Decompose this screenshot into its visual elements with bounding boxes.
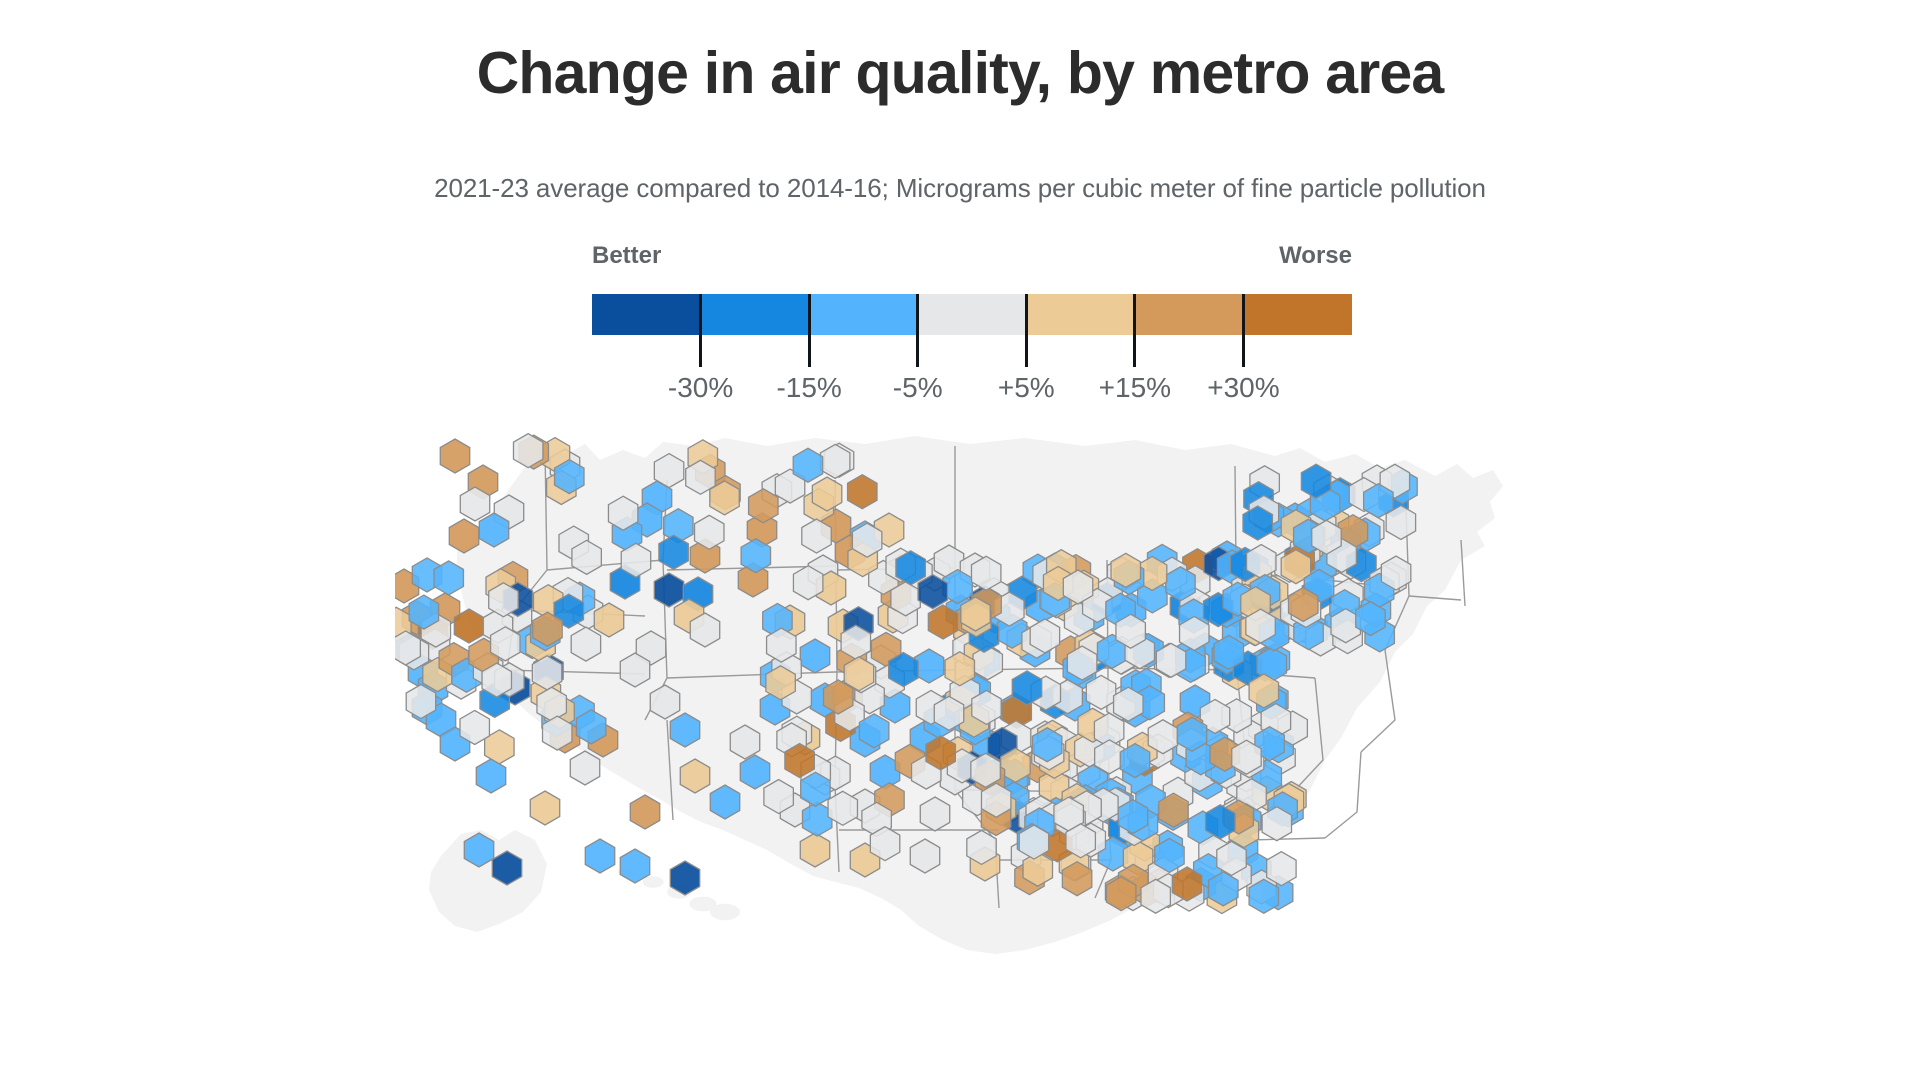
metro-hex[interactable] xyxy=(449,519,478,553)
legend-swatch-0 xyxy=(592,294,701,335)
metro-hex[interactable] xyxy=(848,475,877,509)
legend-swatch-3 xyxy=(918,294,1027,335)
metro-hex[interactable] xyxy=(492,851,521,885)
legend-tick-label-4: +15% xyxy=(1099,372,1171,404)
legend-swatch-4 xyxy=(1026,294,1135,335)
metro-hex[interactable] xyxy=(476,759,505,793)
metro-hex[interactable] xyxy=(620,849,649,883)
us-hex-cartogram xyxy=(395,420,1525,1070)
color-legend: Better Worse -30%-15%-5%+5%+15%+30% xyxy=(592,242,1352,392)
legend-swatch-5 xyxy=(1135,294,1244,335)
metro-hex[interactable] xyxy=(800,833,829,867)
metro-hex[interactable] xyxy=(571,627,600,661)
metro-hex[interactable] xyxy=(680,759,709,793)
metro-hex[interactable] xyxy=(654,573,683,607)
metro-hex-layer xyxy=(395,420,1525,1070)
metro-hex[interactable] xyxy=(920,797,949,831)
legend-tick-label-5: +30% xyxy=(1207,372,1279,404)
metro-hex[interactable] xyxy=(650,685,679,719)
metro-hex[interactable] xyxy=(670,713,699,747)
metro-hex[interactable] xyxy=(710,785,739,819)
metro-hex[interactable] xyxy=(530,791,559,825)
metro-hex[interactable] xyxy=(585,839,614,873)
metro-hex[interactable] xyxy=(730,725,759,759)
legend-worse-label: Worse xyxy=(1279,242,1352,270)
metro-hex[interactable] xyxy=(659,535,688,569)
page-title: Change in air quality, by metro area xyxy=(0,38,1920,108)
legend-tick-labels: -30%-15%-5%+5%+15%+30% xyxy=(592,372,1352,412)
legend-captions: Better Worse xyxy=(592,242,1352,276)
metro-hex[interactable] xyxy=(910,839,939,873)
legend-tick-label-0: -30% xyxy=(668,372,733,404)
legend-swatch-2 xyxy=(809,294,918,335)
legend-tick-label-1: -15% xyxy=(776,372,841,404)
metro-hex[interactable] xyxy=(670,861,699,895)
legend-better-label: Better xyxy=(592,242,661,270)
metro-hex[interactable] xyxy=(440,439,469,473)
legend-swatch-1 xyxy=(701,294,810,335)
metro-hex[interactable] xyxy=(800,639,829,673)
metro-hex[interactable] xyxy=(740,755,769,789)
legend-swatch-6 xyxy=(1243,294,1352,335)
metro-hex[interactable] xyxy=(464,833,493,867)
legend-tick-label-3: +5% xyxy=(998,372,1055,404)
metro-hex[interactable] xyxy=(570,751,599,785)
chart-page: Change in air quality, by metro area 202… xyxy=(0,0,1920,1080)
legend-color-bar xyxy=(592,294,1352,335)
page-subtitle: 2021-23 average compared to 2014-16; Mic… xyxy=(0,172,1920,204)
metro-hex[interactable] xyxy=(630,795,659,829)
legend-tick-label-2: -5% xyxy=(893,372,943,404)
